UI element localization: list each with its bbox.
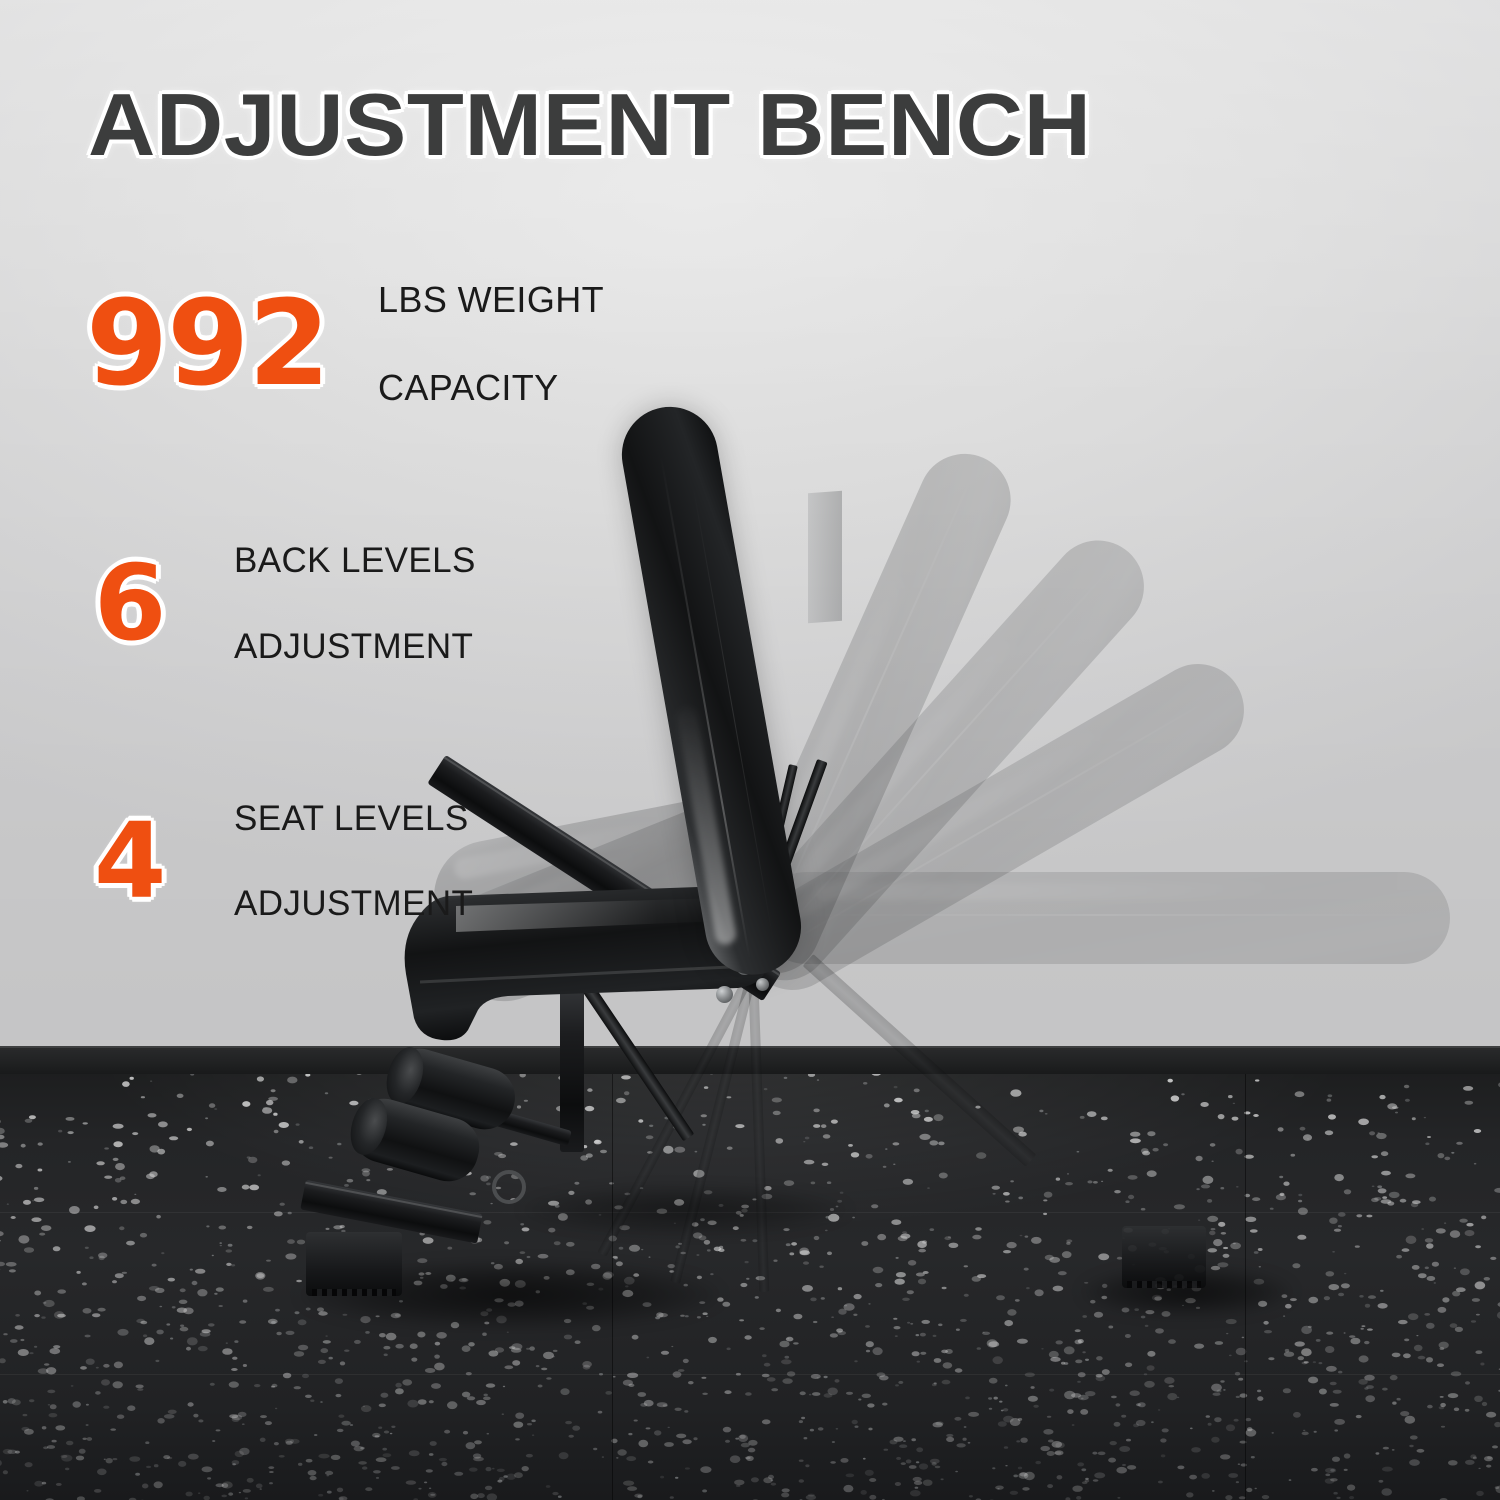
feature-label-line: SEAT LEVELS [234, 798, 473, 841]
feature-number-capacity: 992 [86, 290, 352, 396]
feature-label-line: BACK LEVELS [234, 540, 476, 583]
feature-number-back-levels: 6 [94, 557, 198, 651]
feature-number-seat-levels: 4 [94, 815, 198, 909]
page-title: ADJUSTMENT BENCH [88, 74, 1092, 176]
feature-label-line: ADJUSTMENT [234, 883, 473, 926]
bench-contact-shadow [520, 1186, 850, 1234]
product-marketing-image: ADJUSTMENT BENCH 992 LBS WEIGHT CAPACITY… [0, 0, 1500, 1500]
feature-list: 992 LBS WEIGHT CAPACITY 6 BACK LEVELS AD… [86, 232, 706, 1012]
feature-label-back-levels: BACK LEVELS ADJUSTMENT [234, 498, 476, 711]
hinge-bolt-lower [716, 986, 733, 1003]
backrest-bracket-tab [808, 491, 842, 623]
feature-label-line: CAPACITY [378, 366, 604, 410]
rubber-foot-front [306, 1232, 402, 1296]
feature-label-line: LBS WEIGHT [378, 278, 604, 322]
locking-pin-ring [492, 1170, 526, 1204]
feature-label-line: ADJUSTMENT [234, 626, 476, 669]
feature-label-seat-levels: SEAT LEVELS ADJUSTMENT [234, 755, 473, 968]
feature-weight-capacity: 992 LBS WEIGHT CAPACITY [86, 232, 706, 454]
feature-label-capacity: LBS WEIGHT CAPACITY [378, 234, 604, 454]
rear-frame-leg-ghost [803, 954, 1037, 1167]
feature-back-levels: 6 BACK LEVELS ADJUSTMENT [86, 498, 706, 711]
feature-seat-levels: 4 SEAT LEVELS ADJUSTMENT [86, 755, 706, 968]
hinge-bolt-side [756, 978, 769, 991]
rubber-foot-rear [1122, 1226, 1206, 1288]
